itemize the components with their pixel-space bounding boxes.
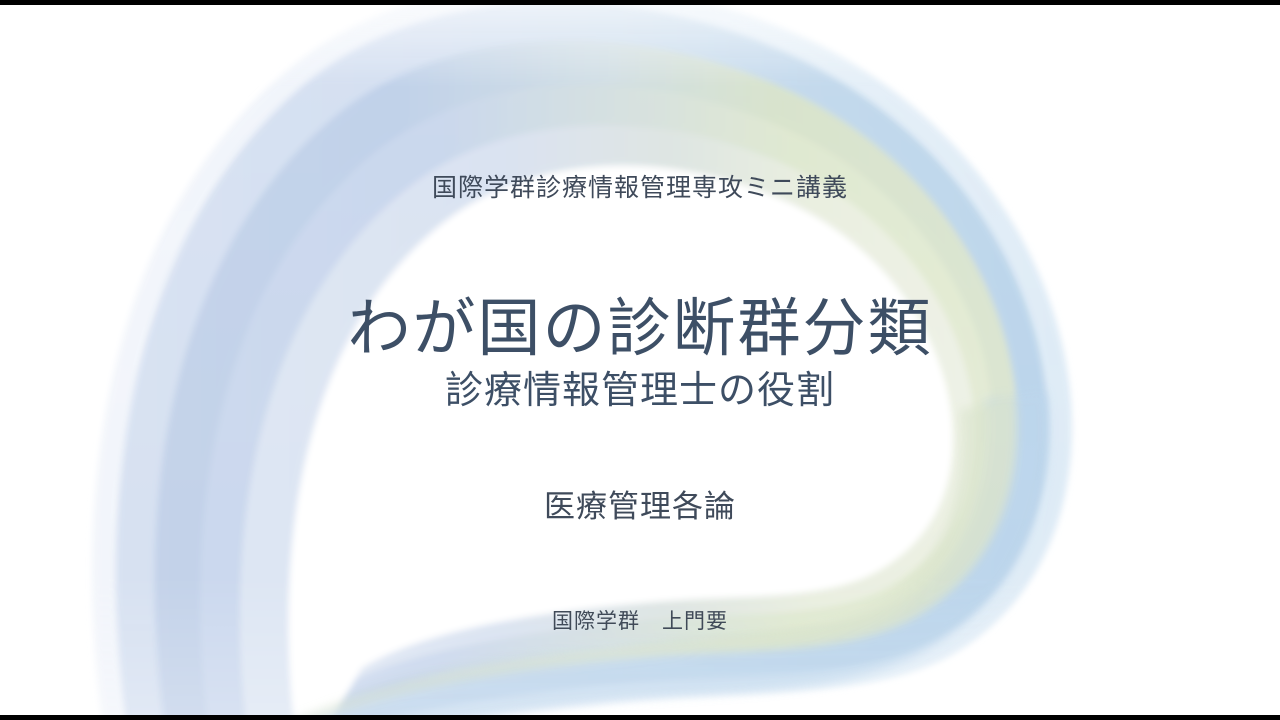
slide-canvas: 国際学群診療情報管理専攻ミニ講義 わが国の診断群分類 診療情報管理士の役割 医療… bbox=[0, 0, 1280, 720]
page-title: わが国の診断群分類 bbox=[0, 290, 1280, 369]
course-name-label: 医療管理各論 bbox=[0, 488, 1280, 527]
lecture-series-label: 国際学群診療情報管理専攻ミニ講義 bbox=[0, 173, 1280, 204]
letterbox-bar-top bbox=[0, 0, 1280, 5]
slide-content: 国際学群診療情報管理専攻ミニ講義 わが国の診断群分類 診療情報管理士の役割 医療… bbox=[0, 0, 1280, 720]
author-affiliation-label: 国際学群 上門要 bbox=[0, 608, 1280, 634]
page-subtitle: 診療情報管理士の役割 bbox=[0, 368, 1280, 416]
letterbox-bar-bottom bbox=[0, 715, 1280, 720]
